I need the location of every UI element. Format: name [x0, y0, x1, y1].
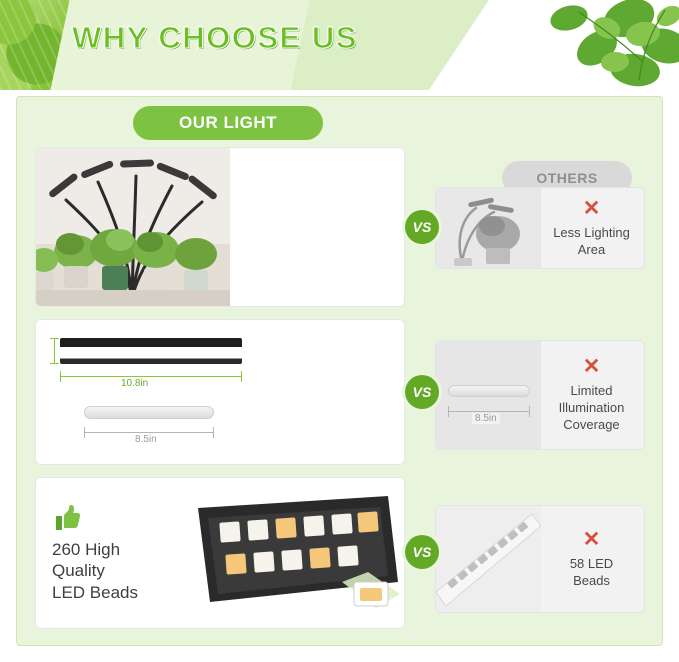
- our-light-bar: [60, 338, 242, 364]
- other-card-2-label: Limited Illumination Coverage: [559, 383, 625, 434]
- other-card-2-diagram: 8.5in: [436, 341, 541, 449]
- other-dim-tick-left: [448, 406, 449, 417]
- vs-badge-row-1: VS: [405, 210, 439, 244]
- dim-width-line: [60, 376, 242, 377]
- other-light-bar: [448, 385, 530, 397]
- other-card-1-photo: [436, 188, 541, 268]
- dim-height-tick-bottom: [50, 363, 59, 364]
- x-icon: ✕: [583, 356, 601, 377]
- other-card-3-photo: [436, 506, 541, 612]
- tab-our-light: OUR LIGHT: [133, 106, 323, 140]
- our-card-3-photo: [192, 478, 404, 628]
- x-icon: ✕: [583, 529, 601, 550]
- other-card-3-text-pane: ✕ 58 LED Beads: [539, 506, 644, 612]
- other-dim-tick-right: [529, 406, 530, 417]
- dim-ref-tick-left: [84, 427, 85, 438]
- dim-ref-tick-right: [213, 427, 214, 438]
- x-icon: ✕: [583, 198, 601, 219]
- our-card-1-photo: [36, 148, 230, 306]
- other-card-row-1: ✕ Less Lighting Area: [435, 187, 645, 269]
- other-card-row-3: ✕ 58 LED Beads: [435, 505, 645, 613]
- other-dim-line: [448, 411, 530, 412]
- plant-decoration-right: [429, 0, 679, 90]
- other-card-1-text-pane: ✕ Less Lighting Area: [539, 188, 644, 268]
- plant-leaves-svg: [429, 0, 679, 90]
- our-card-3-text-pane: 260 High Quality LED Beads: [36, 478, 212, 628]
- dim-ref-line: [84, 432, 214, 433]
- other-card-2-text-pane: ✕ Limited Illumination Coverage: [539, 341, 644, 449]
- led-closeup-svg: [192, 478, 404, 629]
- reference-bar: [84, 406, 214, 419]
- our-card-row-1: Flexible Lighting Area: [35, 147, 405, 307]
- comparison-infographic: WHY CHOOSE US: [0, 0, 679, 662]
- photo-plants-with-lamp: [36, 148, 230, 307]
- thumbs-up-icon: [52, 503, 82, 533]
- dim-width-tick-left: [60, 371, 61, 382]
- other-dim-label: 8.5in: [472, 413, 500, 424]
- other-card-3-label: 58 LED Beads: [570, 556, 613, 590]
- our-card-row-2: Increased Illumination Coverage 1.38in 1…: [35, 319, 405, 465]
- header-banner: WHY CHOOSE US: [0, 0, 679, 90]
- our-card-2-diagram: 1.38in 10.8in 8.5in: [36, 320, 248, 464]
- our-card-3-label: 260 High Quality LED Beads: [52, 539, 138, 603]
- vs-badge-row-3: VS: [405, 535, 439, 569]
- vs-badge-row-2: VS: [405, 375, 439, 409]
- dim-height-line: [54, 338, 55, 364]
- our-card-row-3: 260 High Quality LED Beads: [35, 477, 405, 629]
- other-card-1-label: Less Lighting Area: [553, 225, 630, 259]
- page-title: WHY CHOOSE US: [72, 20, 358, 56]
- dim-width-tick-right: [241, 371, 242, 382]
- dim-height-tick-top: [50, 338, 59, 339]
- comparison-frame: OUR LIGHT OTHERS Flexible Lighting Area: [16, 96, 663, 646]
- dim-ref-label: 8.5in: [132, 434, 160, 445]
- dim-width-label: 10.8in: [118, 378, 151, 389]
- other-card-row-2: 8.5in ✕ Limited Illumination Coverage: [435, 340, 645, 450]
